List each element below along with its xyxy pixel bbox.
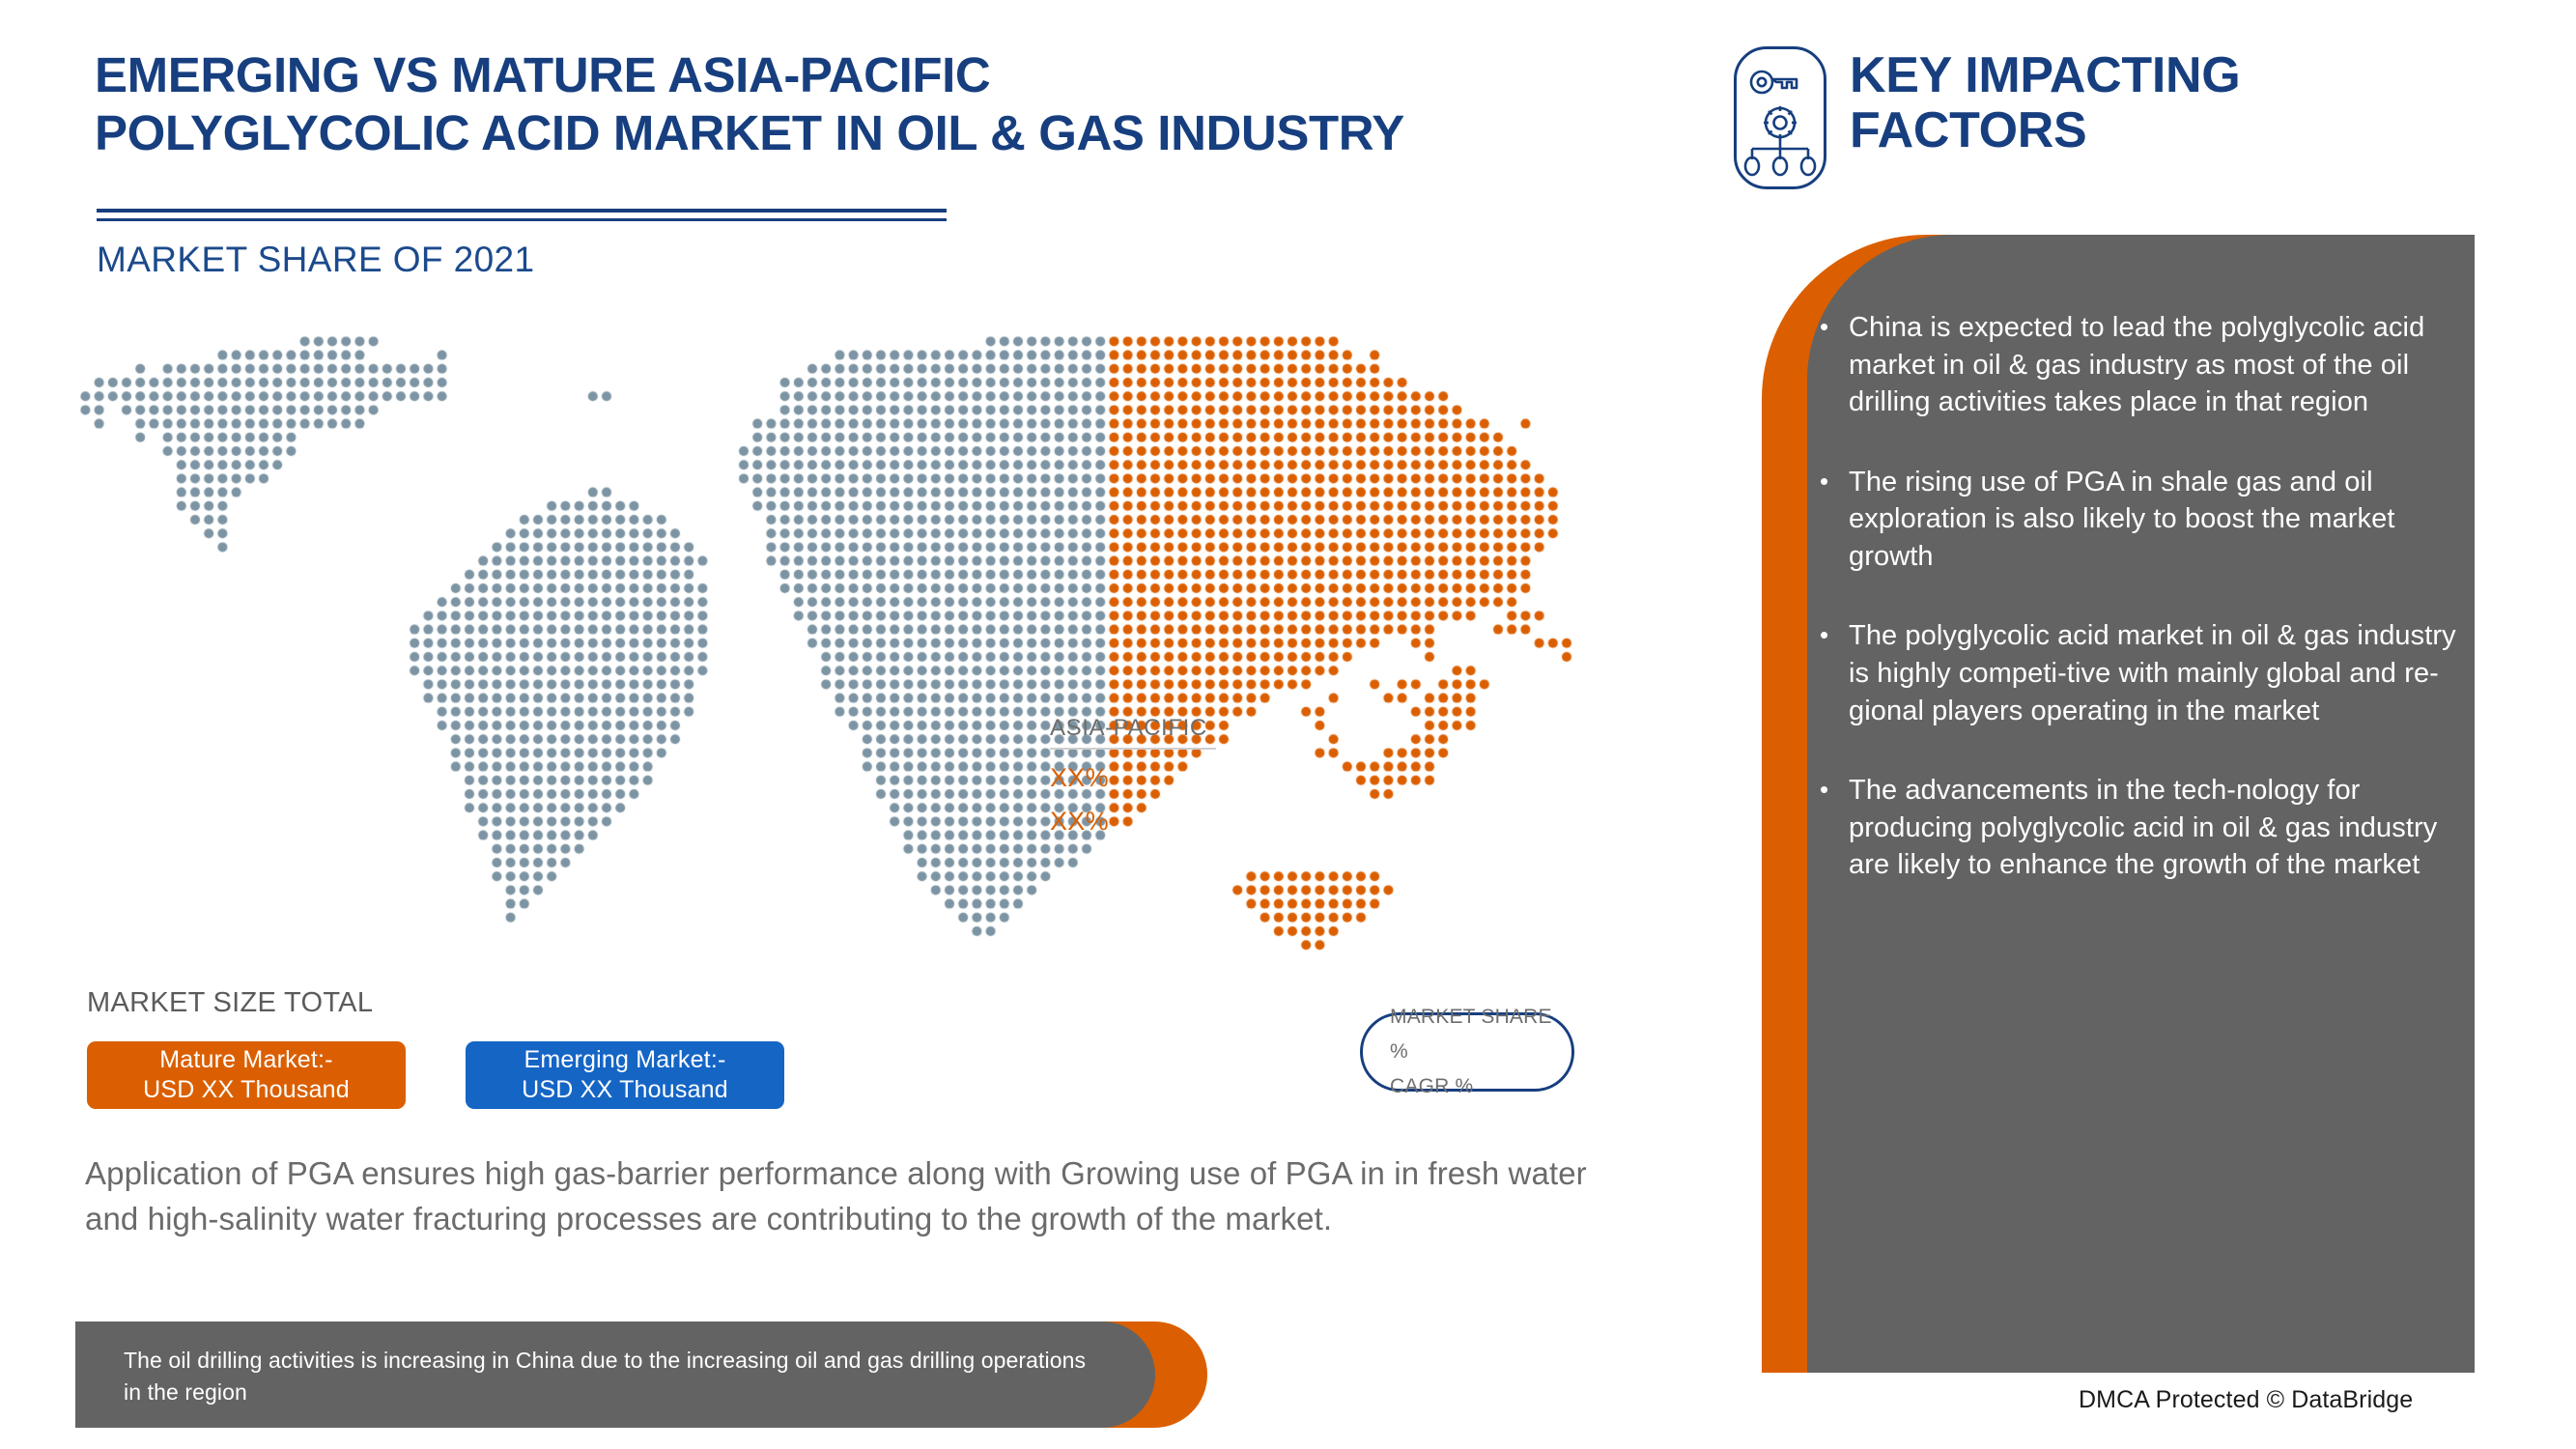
bottom-banner: The oil drilling activities is increasin…	[75, 1321, 1207, 1428]
key-factors-bullet-list: • China is expected to lead the polyglyc…	[1820, 309, 2457, 926]
key-gear-network-icon	[1734, 46, 1826, 189]
kif-title-line1: KEY IMPACTING	[1850, 48, 2240, 103]
bullet-text: The polyglycolic acid market in oil & ga…	[1849, 617, 2457, 729]
legend-emerging-market: Emerging Market:- USD XX Thousand	[466, 1041, 784, 1109]
legend-emerging-line2: USD XX Thousand	[522, 1075, 728, 1106]
bullet-text: The advancements in the tech-nology for …	[1849, 772, 2457, 884]
market-share-pill: MARKET SHARE % CAGR %	[1360, 1012, 1574, 1092]
market-size-total-label: MARKET SIZE TOTAL	[87, 987, 373, 1019]
page-title-line1: EMERGING VS MATURE ASIA-PACIFIC	[95, 46, 1679, 104]
legend-emerging-line1: Emerging Market:-	[524, 1045, 725, 1076]
asia-pacific-cagr-value: XX%	[1050, 807, 1224, 837]
title-divider-top	[97, 209, 947, 213]
bottom-banner-text: The oil drilling activities is increasin…	[124, 1345, 1090, 1407]
bullet-text: China is expected to lead the polyglycol…	[1849, 309, 2457, 421]
list-item: • The advancements in the tech-nology fo…	[1820, 772, 2457, 884]
bullet-icon: •	[1820, 772, 1849, 884]
description-paragraph: Application of PGA ensures high gas-barr…	[85, 1151, 1592, 1242]
asia-pacific-underline	[1050, 748, 1216, 750]
market-share-pill-line2: CAGR %	[1390, 1069, 1571, 1104]
footer-copyright: DMCA Protected © DataBridge	[2079, 1386, 2413, 1414]
kif-title-line2: FACTORS	[1850, 103, 2240, 158]
legend-mature-line2: USD XX Thousand	[143, 1075, 350, 1106]
asia-pacific-label: ASIA-PACIFIC	[1050, 715, 1224, 742]
bullet-icon: •	[1820, 464, 1849, 576]
asia-pacific-share-value: XX%	[1050, 763, 1224, 793]
legend-mature-market: Mature Market:- USD XX Thousand	[87, 1041, 406, 1109]
bullet-icon: •	[1820, 617, 1849, 729]
bullet-text: The rising use of PGA in shale gas and o…	[1849, 464, 2457, 576]
page-title-line2: POLYGLYCOLIC ACID MARKET IN OIL & GAS IN…	[95, 104, 1679, 162]
title-divider-bottom	[97, 218, 947, 221]
key-impacting-factors-title: KEY IMPACTING FACTORS	[1850, 48, 2240, 158]
list-item: • The polyglycolic acid market in oil & …	[1820, 617, 2457, 729]
title-block: EMERGING VS MATURE ASIA-PACIFIC POLYGLYC…	[95, 46, 1679, 162]
page-subtitle: MARKET SHARE OF 2021	[97, 240, 535, 280]
market-share-pill-line1: MARKET SHARE %	[1390, 1000, 1571, 1068]
title-divider	[97, 209, 947, 221]
asia-pacific-callout: ASIA-PACIFIC XX% XX%	[1050, 715, 1224, 837]
infographic-root: EMERGING VS MATURE ASIA-PACIFIC POLYGLYC…	[0, 0, 2576, 1449]
dotted-world-map	[53, 309, 1695, 985]
list-item: • The rising use of PGA in shale gas and…	[1820, 464, 2457, 576]
market-size-legend: Mature Market:- USD XX Thousand Emerging…	[87, 1041, 784, 1109]
legend-mature-line1: Mature Market:-	[159, 1045, 332, 1076]
list-item: • China is expected to lead the polyglyc…	[1820, 309, 2457, 421]
bullet-icon: •	[1820, 309, 1849, 421]
